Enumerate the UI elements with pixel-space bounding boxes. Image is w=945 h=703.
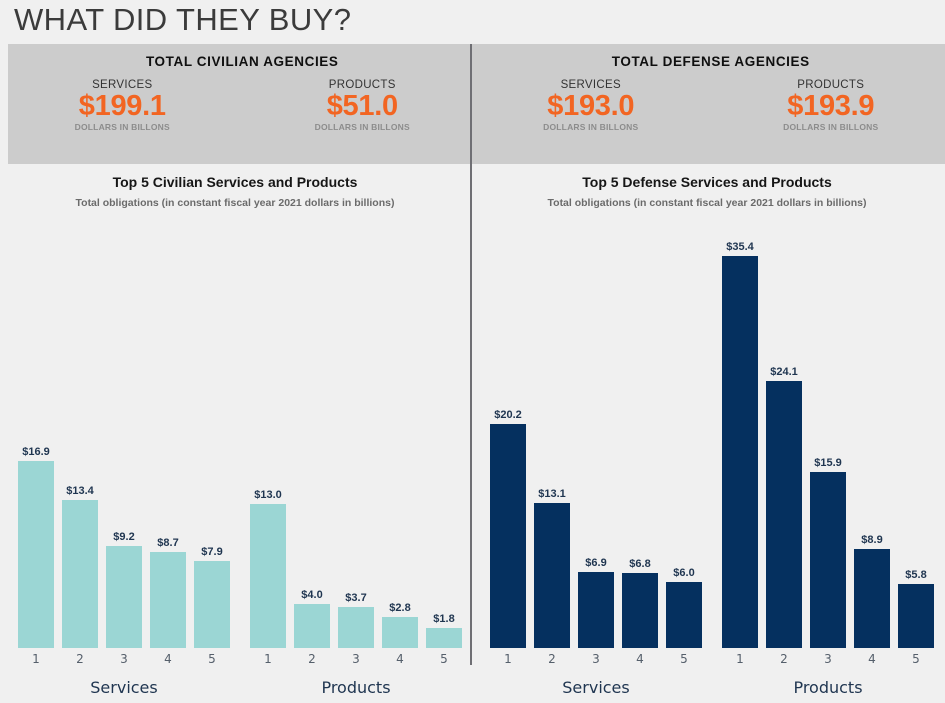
bar[interactable]: [622, 573, 658, 648]
bar[interactable]: [150, 552, 186, 648]
bar-value-label: $6.9: [574, 557, 618, 569]
x-axis-tick-label: 4: [618, 652, 662, 666]
bar[interactable]: [766, 381, 802, 648]
chart-panel-civilian: Top 5 Civilian Services and Products Tot…: [0, 164, 470, 703]
x-axis-tick-label: 2: [530, 652, 574, 666]
bar-value-label: $6.0: [662, 567, 706, 579]
x-axis-tick-label: 5: [662, 652, 706, 666]
bar-slot: $13.01: [246, 164, 290, 703]
kpi-panel-civilian: TOTAL CIVILIAN AGENCIES SERVICES $199.1 …: [8, 44, 477, 164]
bar-slot: $1.85: [422, 164, 466, 703]
bar-slot: $7.95: [190, 164, 234, 703]
x-axis-tick-label: 5: [894, 652, 938, 666]
kpi-metric-defense-products: PRODUCTS $193.9 DOLLARS IN BILLONS: [751, 79, 911, 132]
x-axis-group-title: Products: [718, 678, 938, 697]
x-axis-tick-label: 2: [58, 652, 102, 666]
bar-slot: $6.05: [662, 164, 706, 703]
x-axis-tick-label: 1: [486, 652, 530, 666]
x-axis-tick-label: 5: [190, 652, 234, 666]
bar-slot: $6.84: [618, 164, 662, 703]
x-axis-tick-label: 3: [102, 652, 146, 666]
bar-value-label: $8.7: [146, 537, 190, 549]
x-axis-tick-label: 1: [718, 652, 762, 666]
bar-value-label: $13.1: [530, 488, 574, 500]
bar[interactable]: [18, 461, 54, 648]
kpi-panel-heading: TOTAL DEFENSE AGENCIES: [477, 44, 945, 69]
kpi-metric-units: DOLLARS IN BILLONS: [42, 122, 202, 132]
kpi-metric-units: DOLLARS IN BILLONS: [511, 122, 671, 132]
bar[interactable]: [194, 561, 230, 648]
bar[interactable]: [722, 256, 758, 648]
x-axis-tick-label: 4: [378, 652, 422, 666]
bar-slot: $20.21: [486, 164, 530, 703]
bar-slot: $13.42: [58, 164, 102, 703]
kpi-metric-civilian-services: SERVICES $199.1 DOLLARS IN BILLONS: [42, 79, 202, 132]
x-axis-tick-label: 5: [422, 652, 466, 666]
x-axis-tick-label: 2: [762, 652, 806, 666]
bar-slot: $24.12: [762, 164, 806, 703]
bar-value-label: $13.4: [58, 485, 102, 497]
bar-value-label: $20.2: [486, 409, 530, 421]
x-axis-tick-label: 1: [14, 652, 58, 666]
kpi-metric-civilian-products: PRODUCTS $51.0 DOLLARS IN BILLONS: [282, 79, 442, 132]
kpi-panel-defense: TOTAL DEFENSE AGENCIES SERVICES $193.0 D…: [477, 44, 945, 164]
bar-value-label: $3.7: [334, 592, 378, 604]
bar-value-label: $6.8: [618, 558, 662, 570]
bar-slot: $5.85: [894, 164, 938, 703]
bar-value-label: $8.9: [850, 534, 894, 546]
chart-plot-area: $20.21$13.12$6.93$6.84$6.05Services$35.4…: [472, 164, 942, 703]
bar-value-label: $13.0: [246, 489, 290, 501]
x-axis-group-title: Services: [14, 678, 234, 697]
kpi-metric-value: $51.0: [282, 91, 442, 122]
bar-slot: $9.23: [102, 164, 146, 703]
bar[interactable]: [338, 607, 374, 648]
bar-slot: $16.91: [14, 164, 58, 703]
bar-value-label: $1.8: [422, 613, 466, 625]
kpi-summary-band: TOTAL CIVILIAN AGENCIES SERVICES $199.1 …: [8, 44, 945, 164]
bar-value-label: $15.9: [806, 457, 850, 469]
kpi-metric-units: DOLLARS IN BILLONS: [751, 122, 911, 132]
bar[interactable]: [426, 628, 462, 648]
bar[interactable]: [534, 503, 570, 648]
x-axis-tick-label: 2: [290, 652, 334, 666]
bar-value-label: $5.8: [894, 569, 938, 581]
bar-value-label: $2.8: [378, 602, 422, 614]
x-axis-group-title: Services: [486, 678, 706, 697]
kpi-metric-units: DOLLARS IN BILLONS: [282, 122, 442, 132]
chart-panel-defense: Top 5 Defense Services and Products Tota…: [472, 164, 942, 703]
bar[interactable]: [666, 582, 702, 648]
bar[interactable]: [490, 424, 526, 648]
kpi-metric-value: $193.9: [751, 91, 911, 122]
bar-slot: $6.93: [574, 164, 618, 703]
bar-slot: $8.94: [850, 164, 894, 703]
bar-slot: $3.73: [334, 164, 378, 703]
x-axis-tick-label: 3: [574, 652, 618, 666]
bar-slot: $2.84: [378, 164, 422, 703]
x-axis-tick-label: 1: [246, 652, 290, 666]
bar[interactable]: [62, 500, 98, 648]
bar-value-label: $35.4: [718, 241, 762, 253]
bar-slot: $15.93: [806, 164, 850, 703]
kpi-panel-heading: TOTAL CIVILIAN AGENCIES: [8, 44, 477, 69]
bar-slot: $4.02: [290, 164, 334, 703]
page-title: WHAT DID THEY BUY?: [14, 0, 351, 40]
kpi-metric-defense-services: SERVICES $193.0 DOLLARS IN BILLONS: [511, 79, 671, 132]
bar[interactable]: [810, 472, 846, 648]
kpi-metric-value: $193.0: [511, 91, 671, 122]
x-axis-tick-label: 3: [334, 652, 378, 666]
bar-slot: $13.12: [530, 164, 574, 703]
x-axis-tick-label: 3: [806, 652, 850, 666]
bar[interactable]: [294, 604, 330, 648]
bar-value-label: $4.0: [290, 589, 334, 601]
bar-value-label: $24.1: [762, 366, 806, 378]
bar[interactable]: [382, 617, 418, 648]
bar[interactable]: [578, 572, 614, 648]
bar[interactable]: [106, 546, 142, 648]
bar[interactable]: [898, 584, 934, 648]
x-axis-tick-label: 4: [146, 652, 190, 666]
x-axis-group-title: Products: [246, 678, 466, 697]
bar-value-label: $9.2: [102, 531, 146, 543]
bar[interactable]: [854, 549, 890, 648]
kpi-metric-value: $199.1: [42, 91, 202, 122]
chart-plot-area: $16.91$13.42$9.23$8.74$7.95Services$13.0…: [0, 164, 470, 703]
bar-value-label: $7.9: [190, 546, 234, 558]
x-axis-tick-label: 4: [850, 652, 894, 666]
bar-value-label: $16.9: [14, 446, 58, 458]
bar-slot: $35.41: [718, 164, 762, 703]
bar[interactable]: [250, 504, 286, 648]
bar-slot: $8.74: [146, 164, 190, 703]
